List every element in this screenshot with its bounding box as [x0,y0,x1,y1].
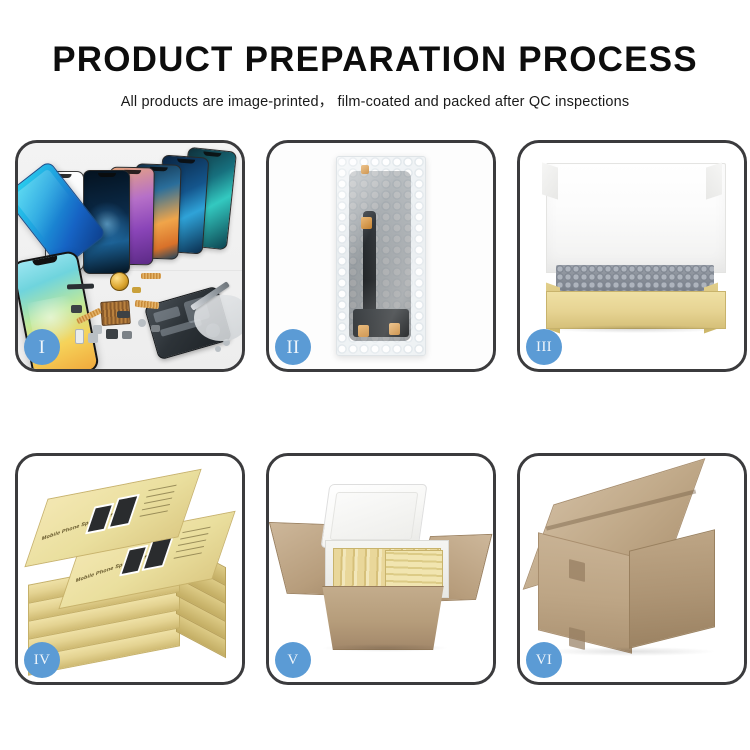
process-step-panel-2[interactable]: II [266,140,496,372]
drop-shadow [323,644,447,652]
process-step-panel-3[interactable]: III [517,140,747,372]
box-yellow-tray [546,291,726,329]
small-part [132,287,141,293]
drop-shadow [546,647,714,656]
carton-body [317,586,449,650]
small-part [117,311,130,318]
flex-cable-part [141,273,161,279]
step-badge-5: V [275,642,311,678]
process-step-panel-4[interactable]: Mobile Phone Spare Parts Mobile Phone Sp… [15,453,245,685]
gold-connector [361,217,372,229]
small-part [138,319,146,327]
process-step-grid: I II [15,140,735,685]
small-part [106,329,118,339]
foam-cooler-lid [321,484,428,548]
page-subtitle: All products are image-printed， film-coa… [0,79,750,111]
drop-shadow [550,325,722,333]
step-badge-2: II [275,329,311,365]
screw-part [215,346,221,352]
box-product-image [107,494,140,529]
packed-retail-boxes [385,550,443,588]
box-white-lid [546,163,726,273]
gold-connector [389,323,400,335]
lid-flap-left [542,162,558,199]
box-spec-line [173,552,201,559]
phone-notch [98,173,116,177]
small-part [88,333,98,343]
step-badge-3: III [526,329,562,365]
lid-flap-right [706,162,722,199]
bubble-wrap-bag [336,156,426,356]
step-badge-6: VI [526,642,562,678]
step-badge-1: I [24,329,60,365]
bubble-padding-layer [556,265,714,293]
process-step-panel-1[interactable]: I [15,140,245,372]
earpiece-speaker-part [67,284,94,290]
process-step-panel-6[interactable]: VI [517,453,747,685]
gold-connector [358,325,369,337]
process-step-panel-5[interactable]: V [266,453,496,685]
phone-notch [203,151,222,157]
vibration-motor-part [110,272,129,291]
small-part [71,305,82,313]
small-part [151,325,160,332]
step-badge-4: IV [24,642,60,678]
small-part [122,331,132,339]
gold-connector [361,165,369,174]
page-header: PRODUCT PREPARATION PROCESS All products… [0,0,750,111]
small-part [75,329,84,344]
page-title: PRODUCT PREPARATION PROCESS [0,0,750,79]
carton-tape-tab [569,559,585,582]
box-spec-line [139,510,167,517]
phone-notch [176,158,194,163]
